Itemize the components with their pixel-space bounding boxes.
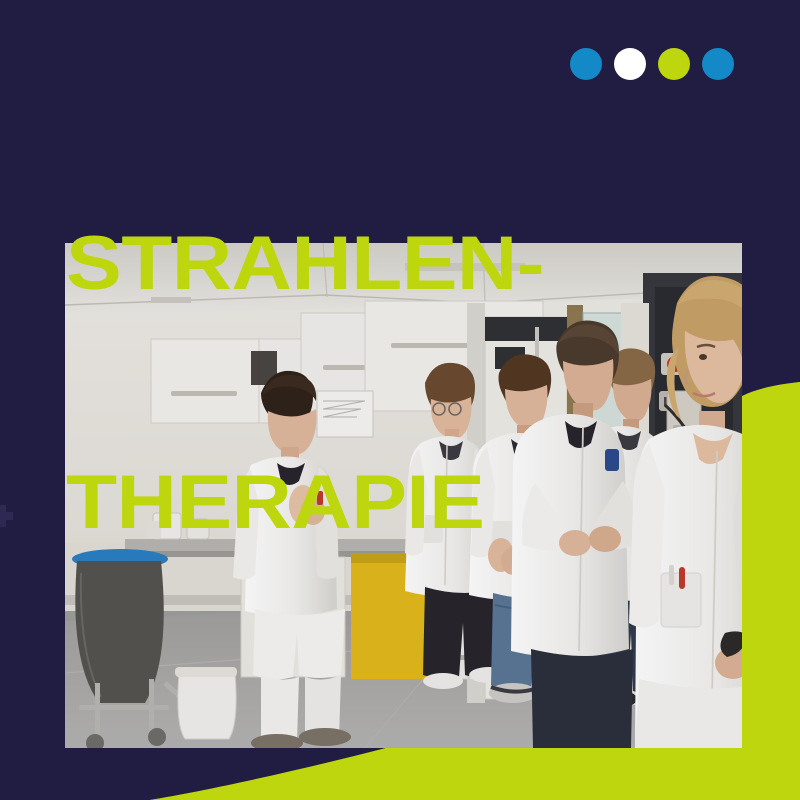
dot-blue-2-icon	[702, 48, 734, 80]
decorative-dot-row	[570, 48, 734, 80]
plus-icon	[0, 505, 13, 527]
page-title: STRAHLEN- THERAPIE	[66, 78, 544, 690]
title-line-1: STRAHLEN-	[66, 227, 544, 301]
title-line-2: THERAPIE	[66, 466, 544, 540]
dot-blue-1-icon	[570, 48, 602, 80]
dot-white-icon	[614, 48, 646, 80]
dot-lime-icon	[658, 48, 690, 80]
poster-canvas: STRAHLEN- THERAPIE	[0, 0, 800, 800]
